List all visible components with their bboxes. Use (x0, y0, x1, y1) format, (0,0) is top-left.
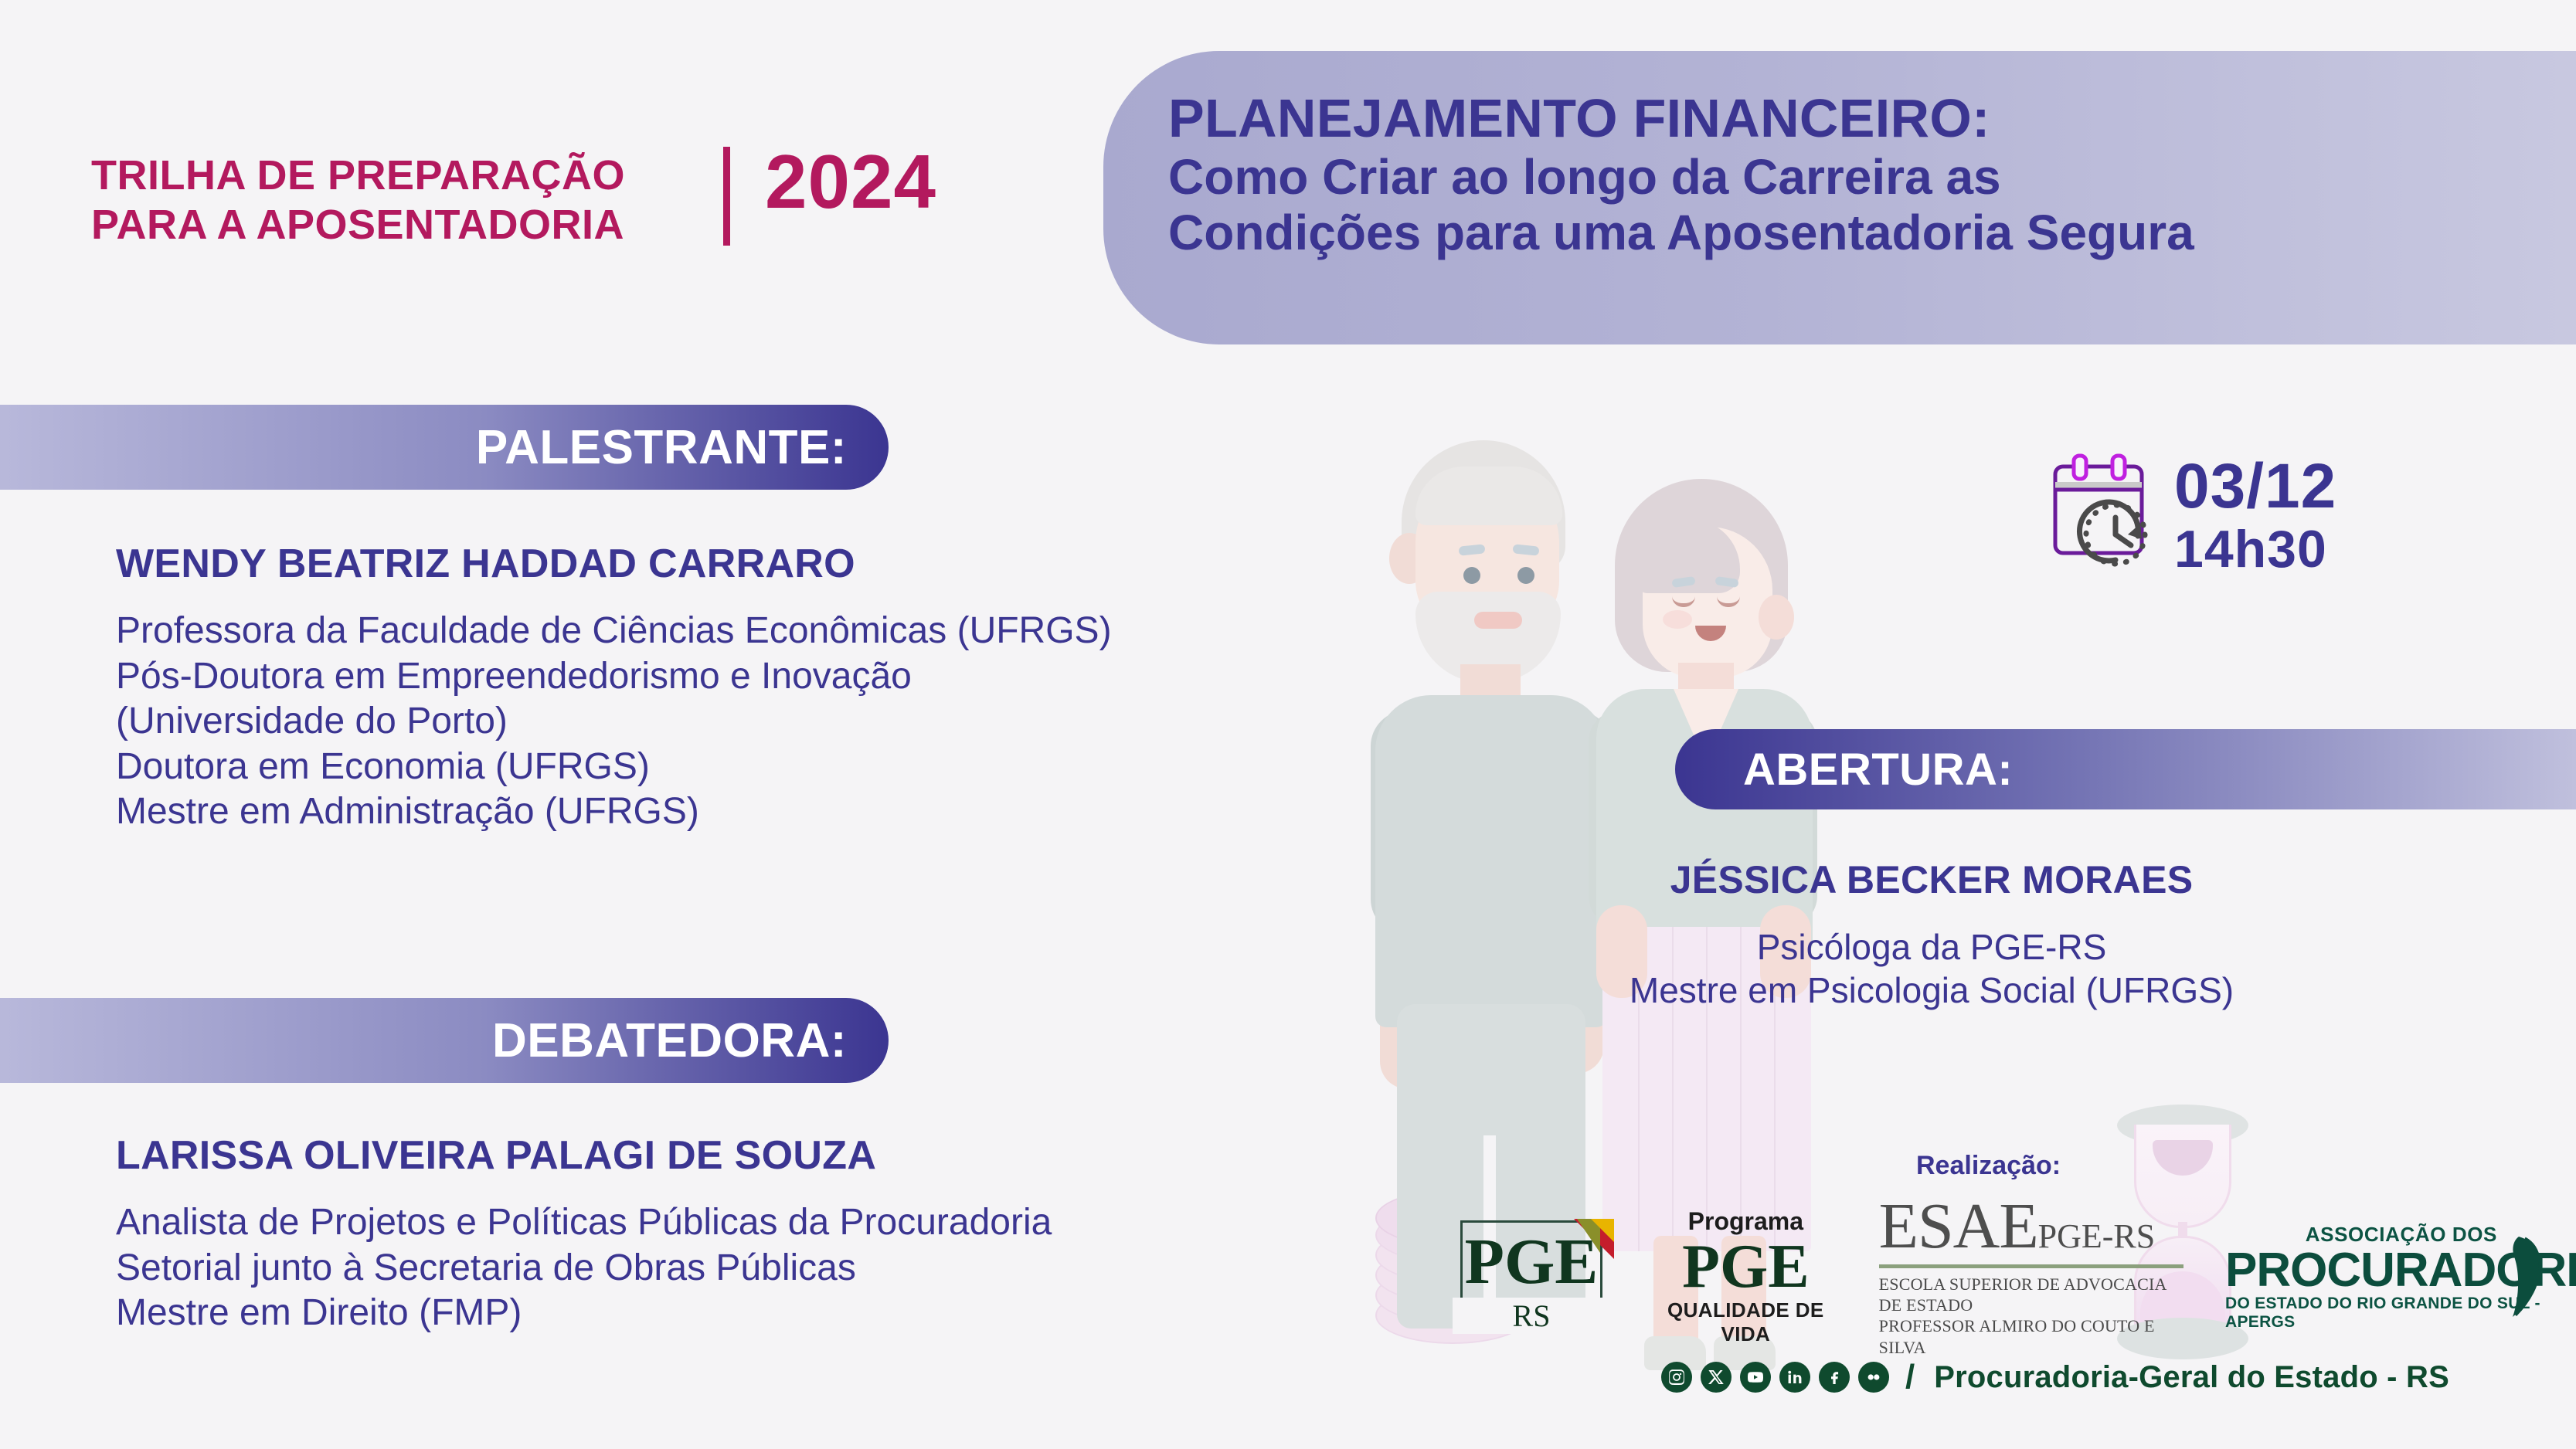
credential-line: Analista de Projetos e Políticas Pública… (116, 1200, 1052, 1246)
palestrante-block: WENDY BEATRIZ HADDAD CARRARO Professora … (116, 541, 1112, 835)
credential-line: Professora da Faculdade de Ciências Econ… (116, 609, 1112, 654)
apergs-leaf-icon (2485, 1235, 2545, 1318)
credential-line: Psicóloga da PGE-RS (1514, 925, 2349, 969)
credential-line: Mestre em Psicologia Social (UFRGS) (1514, 969, 2349, 1012)
flickr-icon[interactable] (1858, 1362, 1889, 1393)
pge-rs-wordmark: PGE (1453, 1230, 1610, 1295)
credential-line: Mestre em Administração (UFRGS) (116, 789, 1112, 835)
debatedora-block: LARISSA OLIVEIRA PALAGI DE SOUZA Analist… (116, 1132, 1052, 1336)
esae-pge-rs-label: PGE-RS (2038, 1220, 2156, 1258)
poster-canvas: $ (0, 0, 2576, 1449)
esae-full-name-line-2: PROFESSOR ALMIRO DO COUTO E SILVA (1879, 1315, 2183, 1358)
event-time: 14h30 (2174, 521, 2336, 578)
calendar-clock-icon (2048, 453, 2153, 568)
event-year: 2024 (765, 144, 936, 219)
social-separator: / (1905, 1358, 1915, 1396)
esae-full-name-line-1: ESCOLA SUPERIOR DE ADVOCACIA DE ESTADO (1879, 1274, 2183, 1316)
title-line-2: Como Criar ao longo da Carreira as (1168, 149, 2576, 205)
badge-palestrante: PALESTRANTE: (0, 405, 889, 490)
credential-line: Setorial junto à Secretaria de Obras Púb… (116, 1246, 1052, 1291)
badge-debatedora: DEBATEDORA: (0, 998, 889, 1083)
logo-pge-qualidade-de-vida: Programa PGE QUALIDADE DE VIDA (1654, 1207, 1837, 1347)
sponsor-logos: PGE RS Programa PGE QUALIDADE DE VIDA ES… (1453, 1196, 2550, 1358)
esae-divider (1879, 1264, 2183, 1268)
pge-rs-sub: RS (1453, 1298, 1610, 1334)
datetime-text: 03/12 14h30 (2174, 453, 2336, 578)
logo-pge-rs: PGE RS (1453, 1211, 1613, 1342)
qv-programa-label: Programa (1654, 1207, 1837, 1236)
title-line-1: PLANEJAMENTO FINANCEIRO: (1168, 88, 2576, 149)
social-media-row: / Procuradoria-Geral do Estado - RS (1661, 1358, 2449, 1396)
credential-line: Mestre em Direito (FMP) (116, 1291, 1052, 1336)
youtube-icon[interactable] (1740, 1362, 1771, 1393)
badge-abertura: ABERTURA: (1675, 729, 2576, 809)
kicker-divider (723, 147, 730, 246)
qv-pge-wordmark: PGE (1654, 1236, 1837, 1299)
logo-esae: ESAE PGE-RS ESCOLA SUPERIOR DE ADVOCACIA… (1879, 1196, 2183, 1358)
linkedin-icon[interactable] (1779, 1362, 1810, 1393)
social-handle: Procuradoria-Geral do Estado - RS (1934, 1360, 2449, 1395)
credential-line: (Universidade do Porto) (116, 699, 1112, 745)
abertura-block: JÉSSICA BECKER MORAES Psicóloga da PGE-R… (1514, 857, 2349, 1012)
credential-line: Doutora em Economia (UFRGS) (116, 745, 1112, 790)
event-series-kicker: TRILHA DE PREPARAÇÃO PARA A APOSENTADORI… (91, 151, 625, 249)
realizacao-label: Realização: (1916, 1151, 2061, 1181)
abertura-name: JÉSSICA BECKER MORAES (1514, 857, 2349, 902)
abertura-credentials: Psicóloga da PGE-RS Mestre em Psicologia… (1514, 925, 2349, 1012)
facebook-icon[interactable] (1819, 1362, 1850, 1393)
instagram-icon[interactable] (1661, 1362, 1692, 1393)
debatedora-credentials: Analista de Projetos e Políticas Pública… (116, 1200, 1052, 1336)
debatedora-name: LARISSA OLIVEIRA PALAGI DE SOUZA (116, 1132, 1052, 1179)
event-date: 03/12 (2174, 453, 2336, 521)
logo-apergs: ASSOCIAÇÃO DOS PROCURADORES DO ESTADO DO… (2225, 1223, 2550, 1332)
kicker-line-1: TRILHA DE PREPARAÇÃO (91, 151, 625, 201)
qv-tagline: QUALIDADE DE VIDA (1654, 1298, 1837, 1346)
palestrante-credentials: Professora da Faculdade de Ciências Econ… (116, 609, 1112, 835)
palestrante-name: WENDY BEATRIZ HADDAD CARRARO (116, 541, 1112, 587)
x-twitter-icon[interactable] (1701, 1362, 1731, 1393)
event-title-banner: PLANEJAMENTO FINANCEIRO: Como Criar ao l… (1103, 51, 2576, 344)
kicker-line-2: PARA A APOSENTADORIA (91, 201, 625, 250)
title-line-3: Condições para uma Aposentadoria Segura (1168, 205, 2576, 260)
esae-wordmark: ESAE (1879, 1196, 2038, 1258)
event-datetime: 03/12 14h30 (2048, 453, 2336, 578)
credential-line: Pós-Doutora em Empreendedorismo e Inovaç… (116, 654, 1112, 700)
